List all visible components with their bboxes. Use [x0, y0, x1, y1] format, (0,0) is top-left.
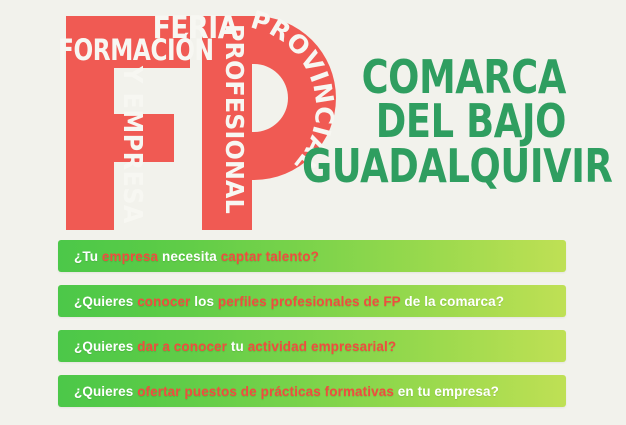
page-title: COMARCA DEL BAJO GUADALQUIVIR — [236, 56, 566, 189]
question-bar-text: ¿Tu empresa necesita captar talento? — [58, 249, 319, 264]
highlighted-phrase: conocer — [137, 294, 190, 309]
headline-line-2: DEL BAJO — [302, 100, 566, 142]
question-actividad-empresarial[interactable]: ¿Quieres dar a conocer tu actividad empr… — [58, 330, 566, 362]
plain-phrase: ¿Quieres — [74, 294, 137, 309]
logo-text-formacion: FORMACIÓN — [58, 32, 214, 67]
question-empresa-talento[interactable]: ¿Tu empresa necesita captar talento? — [58, 240, 566, 272]
plain-phrase: necesita — [158, 249, 221, 264]
logo-text-y-empresa: Y EMPRESA — [118, 65, 148, 224]
highlighted-phrase: actividad empresarial? — [248, 339, 397, 354]
question-perfiles-fp[interactable]: ¿Quieres conocer los perfiles profesiona… — [58, 285, 566, 317]
highlighted-phrase: captar talento? — [221, 249, 319, 264]
highlighted-phrase: dar a conocer — [137, 339, 227, 354]
question-practicas-formativas[interactable]: ¿Quieres ofertar puestos de prácticas fo… — [58, 375, 566, 407]
highlighted-phrase: perfiles profesionales de FP — [218, 294, 401, 309]
plain-phrase: tu — [227, 339, 248, 354]
poster-canvas: FERIA PROVINCIAL FORMACIÓN Y EMPRESA PRO… — [0, 0, 626, 425]
highlighted-phrase: empresa — [102, 249, 158, 264]
question-bar-text: ¿Quieres dar a conocer tu actividad empr… — [58, 339, 396, 354]
plain-phrase: ¿Quieres — [74, 384, 137, 399]
plain-phrase: los — [190, 294, 218, 309]
plain-phrase: ¿Tu — [74, 249, 102, 264]
headline-line-3: GUADALQUIVIR — [302, 145, 566, 187]
question-bar-text: ¿Quieres conocer los perfiles profesiona… — [58, 294, 504, 309]
question-bar-text: ¿Quieres ofertar puestos de prácticas fo… — [58, 384, 499, 399]
highlighted-phrase: ofertar puestos de prácticas formativas — [137, 384, 394, 399]
plain-phrase: de la comarca? — [401, 294, 505, 309]
plain-phrase: ¿Quieres — [74, 339, 137, 354]
plain-phrase: en tu empresa? — [394, 384, 499, 399]
question-bar-list: ¿Tu empresa necesita captar talento?¿Qui… — [58, 240, 566, 420]
headline-line-1: COMARCA — [302, 56, 566, 98]
